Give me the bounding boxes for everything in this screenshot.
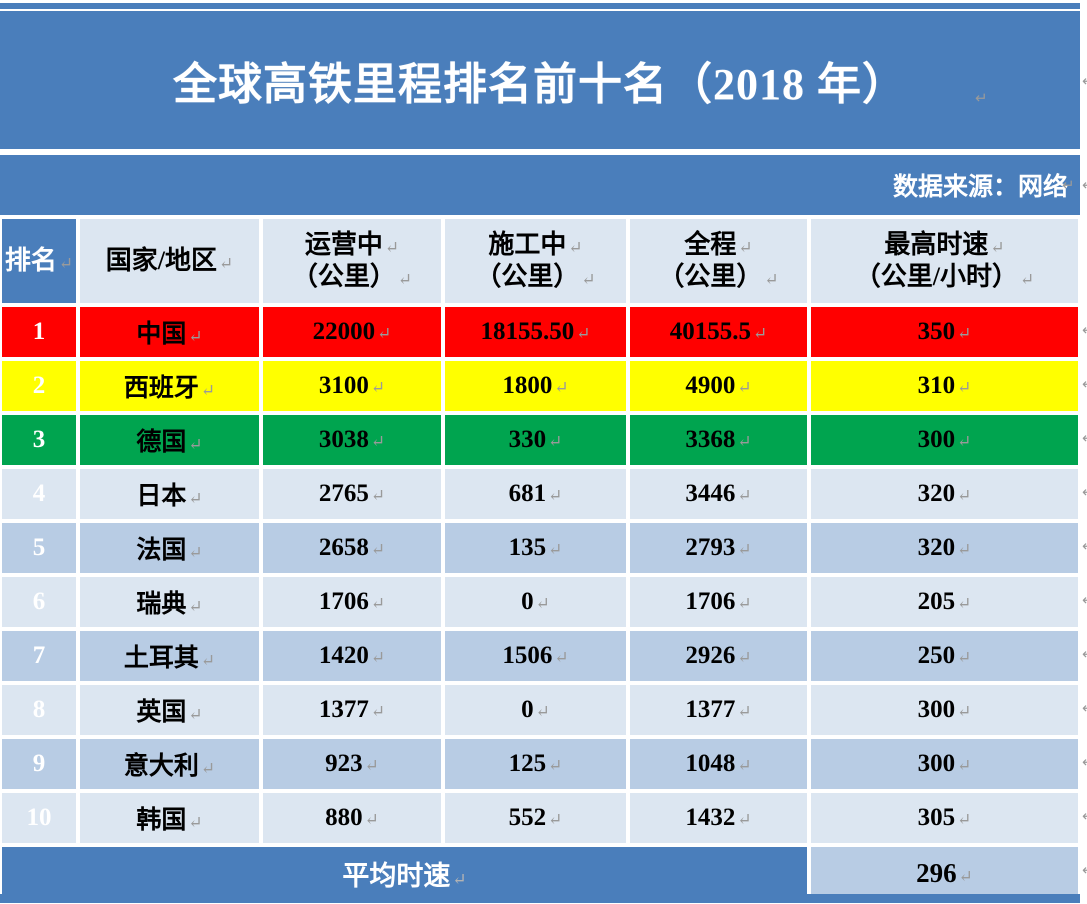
bottom-rule [0, 894, 1080, 903]
column-header-total-l2: （公里） [658, 262, 762, 291]
row-outer-pilcrow-icon: ↵ [1082, 699, 1087, 717]
pilcrow-icon: ↵ [764, 270, 778, 289]
cell-rank-text: 5 [33, 534, 46, 561]
cell-rank-text: 6 [33, 588, 46, 615]
cell-speed-text: 300 [918, 426, 956, 453]
cell-speed: 310↵ [809, 359, 1080, 413]
column-header-total: 全程↵ （公里）↵ [628, 217, 809, 305]
pilcrow-icon: ↵ [188, 705, 202, 724]
title-banner: 全球高铁里程排名前十名（2018 年） ↵ [0, 11, 1080, 149]
cell-operating: 22000↵ [261, 305, 443, 359]
table-row[interactable]: 10韩国↵880↵552↵1432↵305↵ [0, 791, 1080, 845]
pilcrow-icon: ↵ [201, 651, 215, 670]
column-header-construction: 施工中↵ （公里）↵ [443, 217, 628, 305]
pilcrow-icon: ↵ [576, 324, 590, 343]
cell-operating: 923↵ [261, 737, 443, 791]
pilcrow-icon: ↵ [957, 648, 971, 667]
cell-construction: 330↵ [443, 413, 628, 467]
footer-value-cell: 296↵ [809, 845, 1080, 901]
cell-construction-text: 1506 [502, 642, 552, 669]
cell-operating-text: 1420 [319, 642, 369, 669]
cell-country: 瑞典↵ [78, 575, 261, 629]
cell-country: 西班牙↵ [78, 359, 261, 413]
pilcrow-icon: ↵ [188, 327, 202, 346]
cell-country-text: 韩国 [136, 807, 186, 834]
pilcrow-icon: ↵ [548, 810, 562, 829]
column-header-rank-l1: 排名 [5, 246, 57, 275]
cell-total: 4900↵ [628, 359, 809, 413]
pilcrow-icon: ↵ [371, 540, 385, 559]
pilcrow-icon: ↵ [188, 489, 202, 508]
pilcrow-icon: ↵ [548, 486, 562, 505]
cell-rank-text: 2 [33, 372, 46, 399]
column-header-speed-l1: 最高时速 [884, 230, 988, 259]
cell-operating: 1420↵ [261, 629, 443, 683]
cell-operating-text: 3100 [319, 372, 369, 399]
cell-construction: 135↵ [443, 521, 628, 575]
pilcrow-icon: ↵ [548, 756, 562, 775]
cell-rank-text: 4 [33, 480, 46, 507]
pilcrow-icon: ↵ [371, 432, 385, 451]
top-rule [0, 3, 1080, 9]
cell-rank-text: 10 [27, 804, 52, 831]
cell-total: 3368↵ [628, 413, 809, 467]
cell-rank: 7 [0, 629, 78, 683]
title-pilcrow-icon: ↵ [975, 89, 988, 107]
pilcrow-icon: ↵ [371, 648, 385, 667]
cell-country: 法国↵ [78, 521, 261, 575]
cell-operating: 2765↵ [261, 467, 443, 521]
pilcrow-icon: ↵ [753, 324, 767, 343]
row-outer-pilcrow-icon: ↵ [1082, 591, 1087, 609]
cell-construction-text: 330 [509, 426, 547, 453]
column-header-speed-l2: （公里/小时） [855, 262, 1018, 291]
cell-total: 1706↵ [628, 575, 809, 629]
pilcrow-icon: ↵ [737, 702, 751, 721]
cell-country-text: 德国 [136, 429, 186, 456]
cell-total: 2793↵ [628, 521, 809, 575]
pilcrow-icon: ↵ [568, 238, 582, 257]
column-header-speed: 最高时速↵ （公里/小时）↵ [809, 217, 1080, 305]
cell-country-text: 日本 [136, 483, 186, 510]
cell-rank-text: 1 [33, 318, 46, 345]
pilcrow-icon: ↵ [957, 540, 971, 559]
pilcrow-icon: ↵ [398, 270, 412, 289]
cell-operating-text: 1377 [319, 696, 369, 723]
cell-speed-text: 310 [918, 372, 956, 399]
cell-speed-text: 205 [918, 588, 956, 615]
pilcrow-icon: ↵ [365, 756, 379, 775]
pilcrow-icon: ↵ [201, 381, 215, 400]
table-header-row: 排名↵ 国家/地区↵ 运营中↵ （公里）↵ 施工中↵ （公里）↵ 全程↵ （公里… [0, 217, 1080, 305]
cell-speed: 205↵ [809, 575, 1080, 629]
row-outer-pilcrow-icon: ↵ [1082, 645, 1087, 663]
cell-construction-text: 681 [509, 480, 547, 507]
pilcrow-icon: ↵ [548, 432, 562, 451]
column-header-rank: 排名↵ [0, 217, 78, 305]
cell-total: 3446↵ [628, 467, 809, 521]
cell-operating-text: 22000 [313, 318, 376, 345]
cell-total-text: 3368 [685, 426, 735, 453]
cell-speed-text: 300 [918, 696, 956, 723]
cell-rank: 8 [0, 683, 78, 737]
pilcrow-icon: ↵ [737, 594, 751, 613]
pilcrow-icon: ↵ [371, 378, 385, 397]
column-header-operating-l2: （公里） [292, 262, 396, 291]
column-header-country: 国家/地区↵ [78, 217, 261, 305]
pilcrow-icon: ↵ [377, 324, 391, 343]
row-outer-pilcrow-icon: ↵ [1082, 375, 1087, 393]
cell-country: 中国↵ [78, 305, 261, 359]
cell-construction: 0↵ [443, 683, 628, 737]
cell-country-text: 瑞典 [136, 591, 186, 618]
pilcrow-icon: ↵ [959, 867, 973, 886]
footer-outer-pilcrow-icon: ↵ [1082, 861, 1087, 879]
pilcrow-icon: ↵ [188, 597, 202, 616]
cell-rank: 6 [0, 575, 78, 629]
cell-total-text: 1377 [685, 696, 735, 723]
cell-speed: 320↵ [809, 467, 1080, 521]
cell-construction-text: 125 [509, 750, 547, 777]
pilcrow-icon: ↵ [957, 756, 971, 775]
pilcrow-icon: ↵ [737, 432, 751, 451]
cell-speed: 300↵ [809, 413, 1080, 467]
row-outer-pilcrow-icon: ↵ [1082, 483, 1087, 501]
cell-total-text: 40155.5 [670, 318, 751, 345]
pilcrow-icon: ↵ [536, 594, 550, 613]
cell-country-text: 英国 [136, 699, 186, 726]
cell-speed-text: 320 [918, 480, 956, 507]
row-outer-pilcrow-icon: ↵ [1082, 807, 1087, 825]
column-header-total-l1: 全程 [684, 230, 736, 259]
cell-rank: 10 [0, 791, 78, 845]
cell-total-text: 2926 [685, 642, 735, 669]
footer-value: 296 [916, 858, 957, 888]
cell-construction-text: 552 [509, 804, 547, 831]
pilcrow-icon: ↵ [737, 810, 751, 829]
cell-country-text: 中国 [136, 321, 186, 348]
cell-country-text: 意大利 [124, 753, 199, 780]
cell-operating-text: 2658 [319, 534, 369, 561]
cell-operating: 3100↵ [261, 359, 443, 413]
document-page: 全球高铁里程排名前十名（2018 年） ↵ ↵ 数据来源：网络 ↵ ↵ 排名↵ … [0, 0, 1087, 904]
cell-construction: 0↵ [443, 575, 628, 629]
cell-rank-text: 3 [33, 426, 46, 453]
cell-construction: 681↵ [443, 467, 628, 521]
cell-country: 土耳其↵ [78, 629, 261, 683]
pilcrow-icon: ↵ [581, 270, 595, 289]
cell-construction-text: 0 [521, 588, 534, 615]
pilcrow-icon: ↵ [737, 648, 751, 667]
cell-total-text: 2793 [685, 534, 735, 561]
cell-total: 2926↵ [628, 629, 809, 683]
cell-total-text: 1706 [685, 588, 735, 615]
cell-country: 韩国↵ [78, 791, 261, 845]
cell-speed: 350↵ [809, 305, 1080, 359]
cell-construction-text: 135 [509, 534, 547, 561]
cell-country-text: 西班牙 [124, 375, 199, 402]
cell-operating: 2658↵ [261, 521, 443, 575]
table-row[interactable]: 1中国↵22000↵18155.50↵40155.5↵350↵ [0, 305, 1080, 359]
pilcrow-icon: ↵ [201, 759, 215, 778]
cell-operating: 1377↵ [261, 683, 443, 737]
cell-speed: 320↵ [809, 521, 1080, 575]
footer-label-cell: 平均时速↵ [0, 845, 809, 901]
pilcrow-icon: ↵ [737, 486, 751, 505]
cell-total: 40155.5↵ [628, 305, 809, 359]
cell-speed: 300↵ [809, 737, 1080, 791]
pilcrow-icon: ↵ [365, 810, 379, 829]
column-header-operating: 运营中↵ （公里）↵ [261, 217, 443, 305]
cell-rank: 5 [0, 521, 78, 575]
pilcrow-icon: ↵ [957, 702, 971, 721]
cell-construction-text: 0 [521, 696, 534, 723]
cell-country-text: 法国 [136, 537, 186, 564]
table-row[interactable]: 8英国↵1377↵0↵1377↵300↵ [0, 683, 1080, 737]
cell-speed: 305↵ [809, 791, 1080, 845]
cell-construction-text: 18155.50 [481, 318, 575, 345]
row-outer-pilcrow-icon: ↵ [1082, 429, 1087, 447]
pilcrow-icon: ↵ [554, 378, 568, 397]
cell-rank: 2 [0, 359, 78, 413]
pilcrow-icon: ↵ [737, 756, 751, 775]
pilcrow-icon: ↵ [957, 324, 971, 343]
pilcrow-icon: ↵ [371, 702, 385, 721]
pilcrow-icon: ↵ [548, 540, 562, 559]
pilcrow-icon: ↵ [219, 254, 233, 273]
cell-rank-text: 9 [33, 750, 46, 777]
column-header-construction-l2: （公里） [475, 262, 579, 291]
cell-construction-text: 1800 [502, 372, 552, 399]
pilcrow-icon: ↵ [371, 594, 385, 613]
cell-total: 1432↵ [628, 791, 809, 845]
cell-operating-text: 880 [325, 804, 363, 831]
footer-label: 平均时速 [342, 861, 450, 891]
cell-operating-text: 923 [325, 750, 363, 777]
cell-operating: 1706↵ [261, 575, 443, 629]
pilcrow-icon: ↵ [957, 594, 971, 613]
cell-total: 1048↵ [628, 737, 809, 791]
rankings-table: 排名↵ 国家/地区↵ 运营中↵ （公里）↵ 施工中↵ （公里）↵ 全程↵ （公里… [0, 217, 1080, 901]
column-header-construction-l1: 施工中 [488, 230, 566, 259]
cell-rank-text: 7 [33, 642, 46, 669]
cell-construction: 18155.50↵ [443, 305, 628, 359]
cell-operating: 3038↵ [261, 413, 443, 467]
pilcrow-icon: ↵ [957, 378, 971, 397]
cell-speed: 300↵ [809, 683, 1080, 737]
page-title: 全球高铁里程排名前十名（2018 年） [173, 48, 907, 112]
pilcrow-icon: ↵ [738, 238, 752, 257]
table-row[interactable]: 2西班牙↵3100↵1800↵4900↵310↵ [0, 359, 1080, 413]
pilcrow-icon: ↵ [957, 432, 971, 451]
pilcrow-icon: ↵ [452, 870, 466, 889]
table-row[interactable]: 5法国↵2658↵135↵2793↵320↵ [0, 521, 1080, 575]
row-outer-pilcrow-icon: ↵ [1082, 537, 1087, 555]
table-row[interactable]: 4日本↵2765↵681↵3446↵320↵ [0, 467, 1080, 521]
pilcrow-icon: ↵ [188, 813, 202, 832]
cell-construction: 125↵ [443, 737, 628, 791]
cell-total: 1377↵ [628, 683, 809, 737]
cell-rank: 3 [0, 413, 78, 467]
source-outer-pilcrow-icon: ↵ [1082, 176, 1087, 194]
cell-country: 意大利↵ [78, 737, 261, 791]
cell-rank: 9 [0, 737, 78, 791]
cell-total-text: 1432 [685, 804, 735, 831]
pilcrow-icon: ↵ [59, 254, 73, 273]
cell-rank: 4 [0, 467, 78, 521]
cell-operating-text: 1706 [319, 588, 369, 615]
table-footer-row: 平均时速↵ 296↵ [0, 845, 1080, 901]
cell-speed-text: 300 [918, 750, 956, 777]
cell-construction: 1800↵ [443, 359, 628, 413]
pilcrow-icon: ↵ [188, 543, 202, 562]
cell-country: 德国↵ [78, 413, 261, 467]
pilcrow-icon: ↵ [536, 702, 550, 721]
cell-country-text: 土耳其 [124, 645, 199, 672]
title-outer-pilcrow-icon: ↵ [1082, 72, 1087, 90]
pilcrow-icon: ↵ [737, 540, 751, 559]
cell-total-text: 4900 [685, 372, 735, 399]
cell-country: 英国↵ [78, 683, 261, 737]
column-header-operating-l1: 运营中 [305, 230, 383, 259]
cell-speed-text: 350 [918, 318, 956, 345]
pilcrow-icon: ↵ [990, 238, 1004, 257]
cell-speed: 250↵ [809, 629, 1080, 683]
cell-total-text: 3446 [685, 480, 735, 507]
column-header-country-text: 国家/地区 [106, 246, 217, 275]
cell-rank-text: 8 [33, 696, 46, 723]
cell-country: 日本↵ [78, 467, 261, 521]
row-outer-pilcrow-icon: ↵ [1082, 321, 1087, 339]
pilcrow-icon: ↵ [1020, 270, 1034, 289]
pilcrow-icon: ↵ [371, 486, 385, 505]
source-pilcrow-icon: ↵ [1062, 176, 1075, 194]
cell-operating-text: 3038 [319, 426, 369, 453]
source-banner: 数据来源：网络 [0, 155, 1080, 215]
row-outer-pilcrow-icon: ↵ [1082, 753, 1087, 771]
cell-speed-text: 305 [918, 804, 956, 831]
pilcrow-icon: ↵ [554, 648, 568, 667]
cell-construction: 552↵ [443, 791, 628, 845]
pilcrow-icon: ↵ [188, 435, 202, 454]
table-row[interactable]: 3德国↵3038↵330↵3368↵300↵ [0, 413, 1080, 467]
pilcrow-icon: ↵ [957, 486, 971, 505]
table-row[interactable]: 6瑞典↵1706↵0↵1706↵205↵ [0, 575, 1080, 629]
cell-speed-text: 250 [918, 642, 956, 669]
cell-operating: 880↵ [261, 791, 443, 845]
table-row[interactable]: 7土耳其↵1420↵1506↵2926↵250↵ [0, 629, 1080, 683]
cell-construction: 1506↵ [443, 629, 628, 683]
pilcrow-icon: ↵ [737, 378, 751, 397]
table-row[interactable]: 9意大利↵923↵125↵1048↵300↵ [0, 737, 1080, 791]
pilcrow-icon: ↵ [385, 238, 399, 257]
pilcrow-icon: ↵ [957, 810, 971, 829]
cell-operating-text: 2765 [319, 480, 369, 507]
source-note: 数据来源：网络 [893, 167, 1080, 203]
cell-rank: 1 [0, 305, 78, 359]
cell-total-text: 1048 [685, 750, 735, 777]
cell-speed-text: 320 [918, 534, 956, 561]
